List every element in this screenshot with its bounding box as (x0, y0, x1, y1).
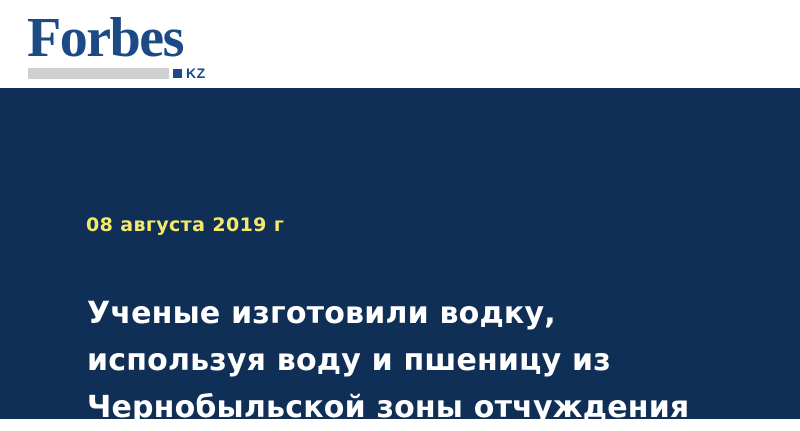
headline-line: используя воду и пшеницу из (87, 337, 727, 384)
logo-blue-square-icon (173, 69, 182, 78)
logo-wordmark: Forbes (27, 10, 183, 66)
headline-line: Ученые изготовили водку, (87, 290, 727, 337)
logo-region-label: KZ (186, 66, 206, 80)
logo-gray-bar-icon (28, 68, 169, 79)
forbes-kz-logo[interactable]: Forbes KZ (27, 10, 237, 78)
hero-banner: 08 августа 2019 г Ученые изготовили водк… (0, 88, 800, 419)
publication-date: 08 августа 2019 г (86, 214, 284, 236)
headline-line: Чернобыльской зоны отчуждения (87, 384, 727, 431)
article-headline: Ученые изготовили водку, используя воду … (87, 290, 727, 431)
article-card: Forbes KZ 08 августа 2019 г Ученые изгот… (0, 0, 800, 419)
site-header: Forbes KZ (0, 0, 800, 88)
